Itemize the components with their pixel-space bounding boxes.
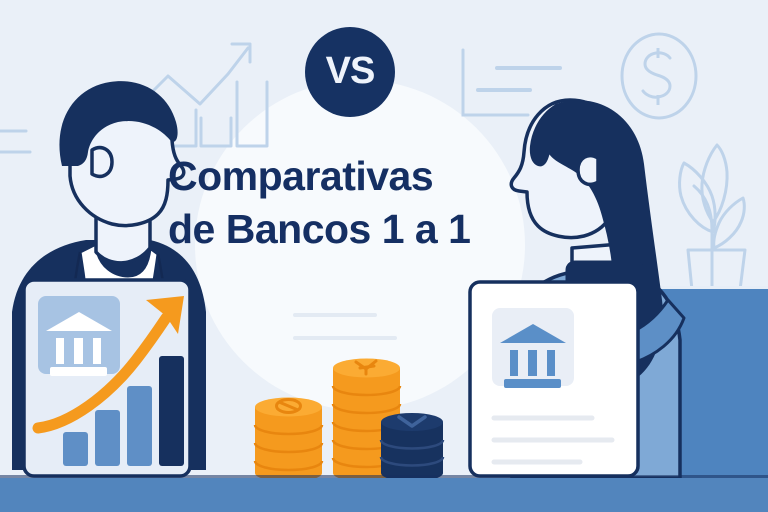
bar-1 [63,432,88,466]
vs-badge-label: VS [326,50,375,93]
bank-document-card [470,282,638,476]
coin-stack-right [381,413,443,482]
poster-canvas: VS Comparativas de Bancos 1 a 1 [0,0,768,512]
right-wall-panel-top-edge [660,286,768,289]
bank-growth-card [24,280,190,476]
coin-stack-left [255,398,322,483]
bar-4 [159,356,184,466]
bar-2 [95,410,120,466]
desk-surface [0,478,768,512]
vs-badge: VS [305,27,395,117]
bar-3 [127,386,152,466]
